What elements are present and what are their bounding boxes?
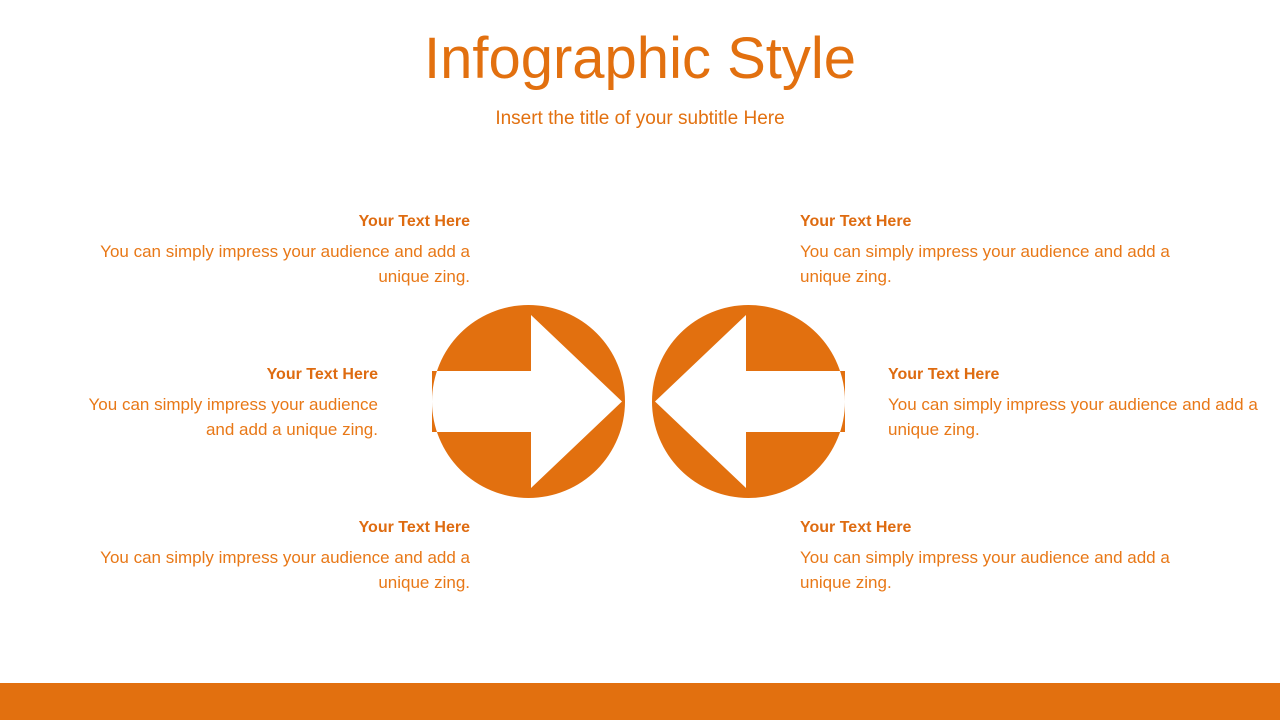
block-body: You can simply impress your audience and… <box>888 392 1268 442</box>
block-body: You can simply impress your audience and… <box>70 239 470 289</box>
page-subtitle: Insert the title of your subtitle Here <box>0 106 1280 132</box>
text-block-bottom-right: Your Text Here You can simply impress yo… <box>800 517 1220 595</box>
text-block-middle-right: Your Text Here You can simply impress yo… <box>888 364 1268 442</box>
text-block-bottom-left: Your Text Here You can simply impress yo… <box>70 517 470 595</box>
footer-bar <box>0 683 1280 720</box>
block-heading: Your Text Here <box>888 364 1268 386</box>
text-block-top-right: Your Text Here You can simply impress yo… <box>800 211 1220 289</box>
block-body: You can simply impress your audience and… <box>800 545 1220 595</box>
slide-canvas: Infographic Style Insert the title of yo… <box>0 0 1280 720</box>
circle-arrow-left-icon <box>652 305 845 498</box>
text-block-top-left: Your Text Here You can simply impress yo… <box>70 211 470 289</box>
block-body: You can simply impress your audience and… <box>800 239 1220 289</box>
circle-arrow-right-icon <box>432 305 625 498</box>
block-heading: Your Text Here <box>70 211 470 233</box>
block-heading: Your Text Here <box>68 364 378 386</box>
center-arrow-graphic <box>432 305 845 498</box>
block-heading: Your Text Here <box>800 211 1220 233</box>
block-heading: Your Text Here <box>70 517 470 539</box>
block-body: You can simply impress your audience and… <box>68 392 378 442</box>
block-heading: Your Text Here <box>800 517 1220 539</box>
block-body: You can simply impress your audience and… <box>70 545 470 595</box>
page-title: Infographic Style <box>0 22 1280 96</box>
text-block-middle-left: Your Text Here You can simply impress yo… <box>68 364 378 442</box>
